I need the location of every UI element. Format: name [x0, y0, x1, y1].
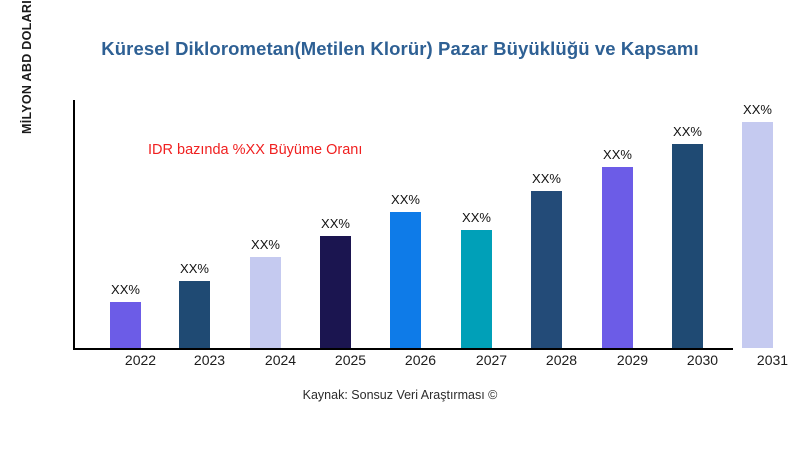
y-axis-line — [73, 100, 75, 350]
growth-rate-annotation: IDR bazında %XX Büyüme Oranı — [148, 142, 362, 158]
bar-2023[interactable] — [179, 281, 210, 348]
x-tick-2025: 2025 — [316, 352, 386, 368]
x-tick-2026: 2026 — [386, 352, 456, 368]
bar-group-2028[interactable]: XX% — [531, 191, 562, 348]
bar-2031[interactable] — [742, 122, 773, 348]
bar-group-2029[interactable]: XX% — [602, 167, 633, 348]
bar-group-2031[interactable]: XX% — [742, 122, 773, 348]
y-axis-title: MİLYON ABD DOLARI — [15, 60, 39, 300]
bar-group-2027[interactable]: XX% — [461, 230, 492, 348]
bar-value-label: XX% — [603, 147, 632, 162]
bar-value-label: XX% — [321, 216, 350, 231]
x-tick-2029: 2029 — [598, 352, 668, 368]
bar-group-2025[interactable]: XX% — [320, 236, 351, 348]
x-tick-2027: 2027 — [457, 352, 527, 368]
bar-group-2030[interactable]: XX% — [672, 144, 703, 348]
chart-title: Küresel Diklorometan(Metilen Klorür) Paz… — [0, 38, 800, 60]
bar-group-2023[interactable]: XX% — [179, 281, 210, 348]
x-tick-2028: 2028 — [527, 352, 597, 368]
bar-value-label: XX% — [251, 237, 280, 252]
bar-value-label: XX% — [743, 102, 772, 117]
x-tick-2031: 2031 — [738, 352, 800, 368]
bar-value-label: XX% — [462, 210, 491, 225]
x-tick-2024: 2024 — [246, 352, 316, 368]
source-caption: Kaynak: Sonsuz Veri Araştırması © — [0, 388, 800, 402]
y-axis-title-text: MİLYON ABD DOLARI — [20, 0, 34, 134]
bar-2025[interactable] — [320, 236, 351, 348]
plot-area: XX% XX% XX% XX% XX% XX% XX% XX% — [73, 100, 733, 350]
bar-2022[interactable] — [110, 302, 141, 348]
bar-2028[interactable] — [531, 191, 562, 348]
bar-group-2022[interactable]: XX% — [110, 302, 141, 348]
x-tick-2022: 2022 — [106, 352, 176, 368]
bar-2027[interactable] — [461, 230, 492, 348]
bar-group-2024[interactable]: XX% — [250, 257, 281, 348]
bar-group-2026[interactable]: XX% — [390, 212, 421, 348]
x-tick-2030: 2030 — [668, 352, 738, 368]
bar-2026[interactable] — [390, 212, 421, 348]
chart-container: Küresel Diklorometan(Metilen Klorür) Paz… — [0, 0, 800, 450]
bar-value-label: XX% — [111, 282, 140, 297]
bar-value-label: XX% — [673, 124, 702, 139]
x-tick-2023: 2023 — [175, 352, 245, 368]
bar-2030[interactable] — [672, 144, 703, 348]
bar-value-label: XX% — [391, 192, 420, 207]
bar-2024[interactable] — [250, 257, 281, 348]
bar-2029[interactable] — [602, 167, 633, 348]
bar-value-label: XX% — [532, 171, 561, 186]
x-axis-line — [73, 348, 733, 350]
bar-value-label: XX% — [180, 261, 209, 276]
